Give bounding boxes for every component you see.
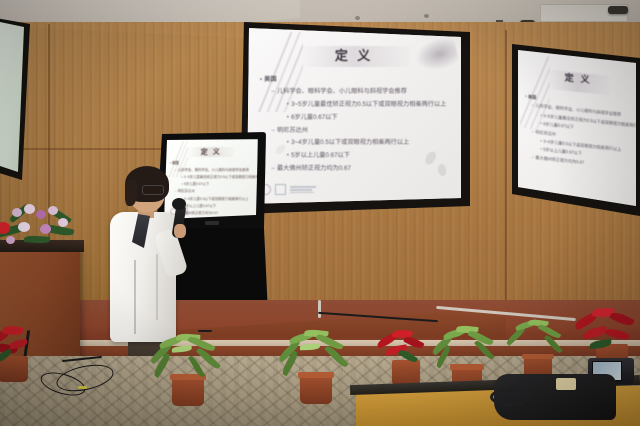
slide-logo-group bbox=[260, 184, 316, 195]
presenter-hair bbox=[125, 180, 137, 206]
glasses-icon bbox=[142, 185, 164, 195]
slide-bullet-text: 3~5岁儿童最佳矫正视力0.5以下或双眼视力相差两行以上 bbox=[184, 174, 258, 181]
slide-title: 定 义 bbox=[190, 147, 231, 157]
bullet-marker-icon: • bbox=[287, 150, 289, 163]
bullet-marker-icon: • bbox=[287, 137, 289, 150]
slide-bullet-text: 3~4岁儿童0.5以下或双眼视力相差两行以上 bbox=[291, 137, 409, 150]
slide-bullet-line: •3~5岁儿童最佳矫正视力0.5以下或双眼视力相差两行以上 bbox=[287, 99, 453, 112]
slide-bullet-text: 明尼苏达州 bbox=[277, 125, 308, 138]
bullet-marker-icon: • bbox=[260, 74, 262, 87]
slide-bullet-text: 美国 bbox=[172, 160, 179, 167]
floor-tape-marker bbox=[78, 386, 87, 389]
slide-bullet-line: •3~5岁儿童最佳矫正视力0.5以下或双眼视力相差两行以上 bbox=[181, 174, 254, 181]
slide-title: 定 义 bbox=[307, 45, 401, 64]
slide-bullet-line: •美国 bbox=[170, 160, 255, 167]
slide-bullet-line: –儿科学会、眼科学会、小儿眼科与斜视学会推荐 bbox=[271, 86, 452, 99]
slide-bullet-line: •6岁儿童0.67以下 bbox=[287, 112, 453, 125]
ceiling-fixture-dot bbox=[355, 16, 360, 20]
bullet-marker-icon: • bbox=[287, 112, 289, 125]
orchid-flower-arrangement bbox=[0, 196, 88, 254]
bullet-marker-icon: • bbox=[540, 137, 541, 146]
bullet-marker-icon: • bbox=[540, 111, 541, 120]
right-projection-screen[interactable]: 定 义 •美国–儿科学会、眼科学会、小儿眼科与斜视学会推荐•3~5岁儿童最佳矫正… bbox=[518, 50, 636, 208]
slide-main: 定 义 •美国–儿科学会、眼科学会、小儿眼科与斜视学会推荐•3~5岁儿童最佳矫正… bbox=[247, 28, 461, 204]
slide-bullet-text: 3~4岁儿童0.5以下或双眼视力相差两行以上 bbox=[184, 196, 249, 203]
slide-bullet-line: •6岁儿童0.67以下 bbox=[181, 181, 254, 188]
microphone-head-icon bbox=[172, 198, 186, 210]
bag-label-tag bbox=[556, 378, 576, 390]
bullet-marker-icon: – bbox=[532, 102, 534, 111]
slide-bullet-line: •美国 bbox=[260, 74, 453, 87]
slide-bullet-text: 最大佛州矫正视力均为0.67 bbox=[277, 163, 351, 176]
bullet-marker-icon: • bbox=[287, 99, 289, 112]
slide-bullet-text: 5岁以上儿童0.67以下 bbox=[291, 150, 350, 163]
slide-body-right: •美国–儿科学会、眼科学会、小儿眼科与斜视学会推荐•3~5岁儿童最佳矫正视力0.… bbox=[525, 93, 633, 173]
slide-body-main: •美国–儿科学会、眼科学会、小儿眼科与斜视学会推荐•3~5岁儿童最佳矫正视力0.… bbox=[260, 74, 453, 176]
slide-bullet-text: 3~5岁儿童最佳矫正视力0.5以下或双眼视力相差两行以上 bbox=[291, 99, 446, 112]
bullet-marker-icon: – bbox=[271, 163, 274, 176]
main-projection-screen[interactable]: 定 义 •美国–儿科学会、眼科学会、小儿眼科与斜视学会推荐•3~5岁儿童最佳矫正… bbox=[247, 28, 461, 204]
slide-bullet-text: 6岁儿童0.67以下 bbox=[291, 112, 337, 125]
square-logo-icon bbox=[275, 184, 286, 195]
bag-strap bbox=[490, 388, 530, 406]
slide-right: 定 义 •美国–儿科学会、眼科学会、小儿眼科与斜视学会推荐•3~5岁儿童最佳矫正… bbox=[518, 50, 636, 208]
bullet-marker-icon: – bbox=[271, 86, 274, 99]
institution-wordmark-icon bbox=[290, 186, 316, 193]
feather-graphic-icon bbox=[411, 34, 460, 75]
coat-fold bbox=[156, 254, 158, 320]
ceiling-fixture-dot bbox=[424, 14, 429, 18]
presenter-hand bbox=[174, 224, 186, 238]
slide-bullet-line: •3~4岁儿童0.5以下或双眼视力相差两行以上 bbox=[181, 196, 254, 203]
coat-fold bbox=[134, 260, 136, 334]
bullet-marker-icon: • bbox=[170, 160, 171, 167]
bullet-marker-icon: – bbox=[532, 128, 534, 137]
slide-bullet-line: •5岁以上儿童0.67以下 bbox=[181, 203, 254, 210]
bullet-marker-icon: – bbox=[271, 125, 274, 138]
slide-bullet-text: 儿科学会、眼科学会、小儿眼科与斜视学会推荐 bbox=[277, 86, 407, 99]
monitor-brand-badge bbox=[205, 221, 219, 225]
slide-bullet-line: –最大佛州矫正视力均为0.67 bbox=[271, 163, 452, 176]
slide-bullet-line: •3~4岁儿童0.5以下或双眼视力相差两行以上 bbox=[287, 137, 453, 150]
slide-bullet-text: 美国 bbox=[264, 74, 276, 87]
bullet-marker-icon: • bbox=[540, 146, 541, 155]
bullet-marker-icon: • bbox=[525, 93, 526, 102]
bullet-marker-icon: • bbox=[540, 120, 541, 129]
slide-bullet-line: –明尼苏达州 bbox=[271, 125, 452, 138]
stage-cable bbox=[198, 330, 212, 332]
wall-seam bbox=[505, 30, 507, 320]
bullet-marker-icon: – bbox=[532, 153, 534, 162]
ceiling-speaker-icon bbox=[608, 6, 628, 14]
ceiling-drop-cable bbox=[318, 300, 321, 318]
lecture-hall-scene: 定 义 •美国–儿科学会、眼科学会、小儿眼科与斜视学会推荐•3~5岁儿童最佳矫正… bbox=[0, 0, 640, 426]
